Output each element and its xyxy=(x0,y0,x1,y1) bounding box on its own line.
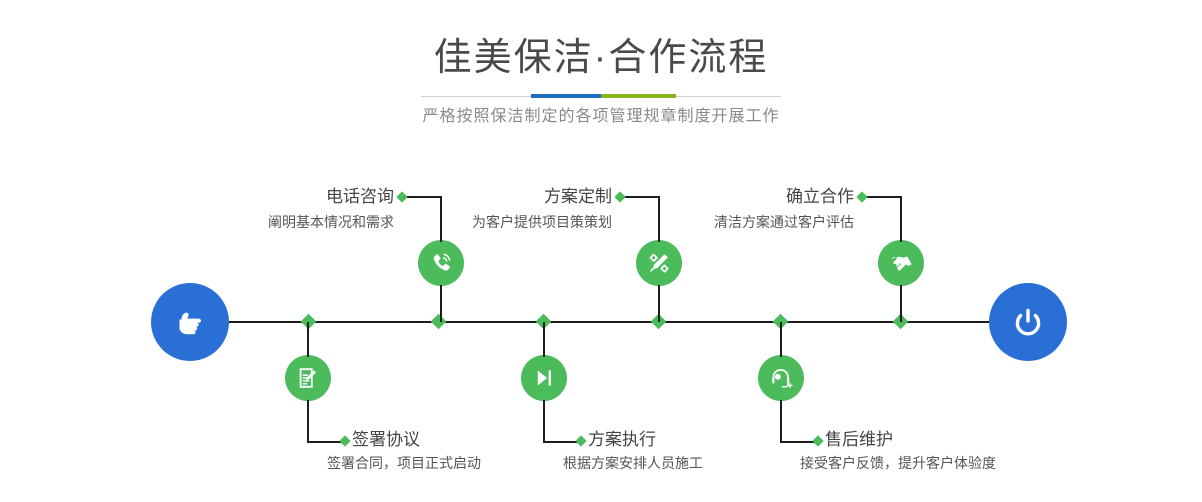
step-5-icon-badge[interactable] xyxy=(878,240,924,286)
step-6-connector-vertical-top xyxy=(780,322,782,357)
step-3-connector-vertical-bottom xyxy=(658,285,660,322)
pencil-design-icon xyxy=(645,249,673,277)
headset-support-icon xyxy=(767,364,795,392)
step-2-title: 签署协议 xyxy=(352,429,602,451)
step-1-connector-vertical-bottom xyxy=(440,285,442,322)
step-5-connector-vertical-top xyxy=(900,196,902,242)
step-5-connector-horizontal xyxy=(864,196,902,198)
step-4-connector-horizontal xyxy=(543,441,579,443)
step-6-connector-horizontal xyxy=(780,441,816,443)
step-2-icon-badge[interactable] xyxy=(285,355,331,401)
step-6-connector-vertical-bottom xyxy=(780,400,782,442)
play-forward-icon xyxy=(530,364,558,392)
step-2-label-marker xyxy=(339,435,350,446)
step-5-connector-vertical-bottom xyxy=(900,285,902,322)
title-divider xyxy=(421,94,781,98)
step-1-icon-badge[interactable] xyxy=(418,240,464,286)
step-4-connector-vertical-bottom xyxy=(543,400,545,442)
step-6-desc: 接受客户反馈，提升客户体验度 xyxy=(800,453,1100,473)
divider-green-segment xyxy=(601,94,676,98)
page-subtitle: 严格按照保洁制定的各项管理规章制度开展工作 xyxy=(0,105,1202,129)
divider-blue-segment xyxy=(531,94,601,98)
step-2-connector-vertical-bottom xyxy=(307,400,309,442)
spine-marker-2 xyxy=(431,314,447,330)
end-endpoint[interactable] xyxy=(989,283,1067,361)
pointing-hand-icon xyxy=(168,300,212,344)
phone-call-icon xyxy=(427,249,455,277)
document-edit-icon xyxy=(294,364,322,392)
timeline-spine xyxy=(160,321,1042,323)
start-endpoint[interactable] xyxy=(151,283,229,361)
step-4-connector-vertical-top xyxy=(543,322,545,357)
handshake-icon xyxy=(887,249,915,277)
step-6-icon-badge[interactable] xyxy=(758,355,804,401)
step-1-title: 电话咨询 xyxy=(158,186,394,208)
step-3-icon-badge[interactable] xyxy=(636,240,682,286)
step-4-title: 方案执行 xyxy=(588,429,838,451)
step-5-label-marker xyxy=(856,191,867,202)
step-5-desc: 清洁方案通过客户评估 xyxy=(600,212,854,232)
step-3-desc: 为客户提供项目策策划 xyxy=(358,212,612,232)
step-5-title: 确立合作 xyxy=(618,186,854,208)
step-4-icon-badge[interactable] xyxy=(521,355,567,401)
step-6-title: 售后维护 xyxy=(825,429,1085,451)
page-title: 佳美保洁·合作流程 xyxy=(0,36,1202,80)
step-2-connector-horizontal xyxy=(307,441,343,443)
step-2-connector-vertical-top xyxy=(307,322,309,357)
step-3-title: 方案定制 xyxy=(376,186,612,208)
power-icon xyxy=(1006,300,1050,344)
flow-infographic: 佳美保洁·合作流程 严格按照保洁制定的各项管理规章制度开展工作 xyxy=(0,0,1202,502)
step-1-desc: 阐明基本情况和需求 xyxy=(140,212,394,232)
